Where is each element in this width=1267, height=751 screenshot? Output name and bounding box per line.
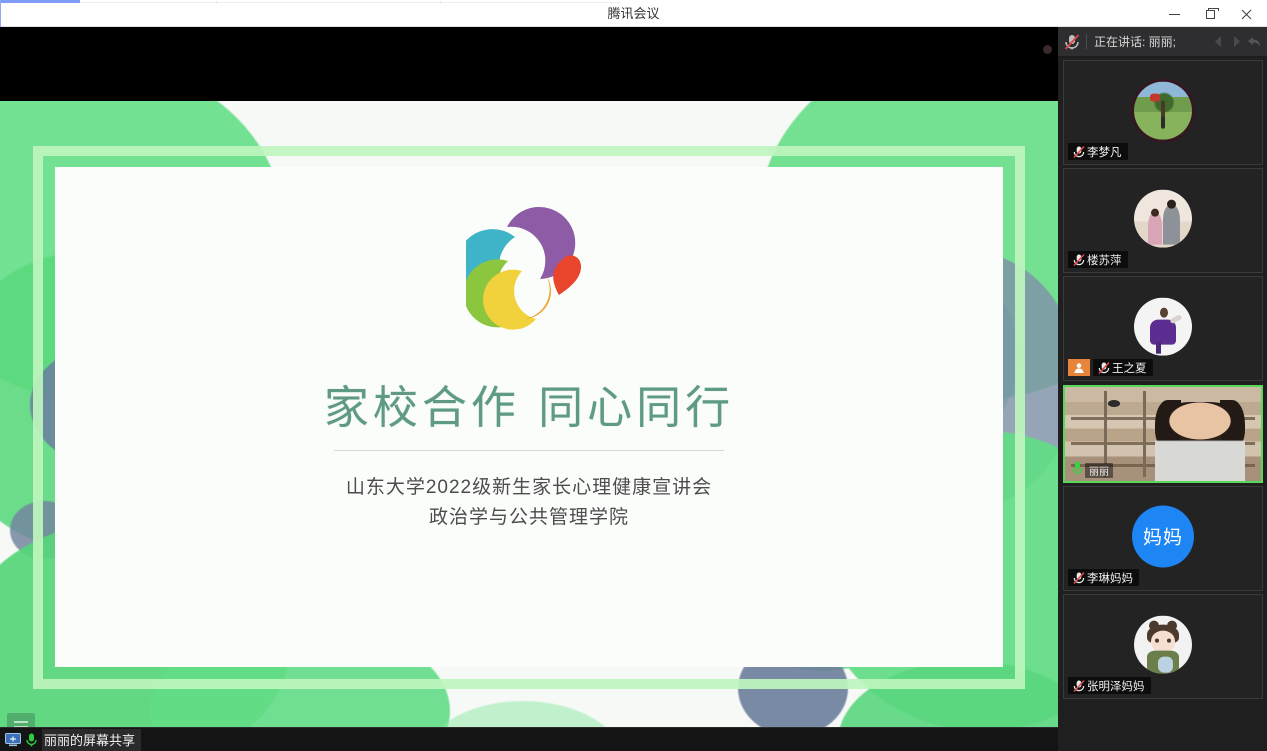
avatar [1134,81,1192,139]
mic-on-indicator [1069,459,1085,477]
mic-off-icon [1063,33,1081,51]
share-status-bar: 丽丽的屏幕共享 [0,727,1058,751]
participant-name: 张明泽妈妈 [1087,678,1145,694]
participant-tile[interactable]: 妈妈 李琳妈妈 [1063,486,1263,591]
close-icon [1241,9,1252,20]
panel-header: 正在讲话: 丽丽; [1058,27,1267,57]
close-button[interactable] [1232,0,1261,27]
restore-icon [1206,10,1215,19]
presentation-slide: 家校合作 同心同行 山东大学2022级新生家长心理健康宣讲会 政治学与公共管理学… [0,101,1058,727]
mic-off-icon [1071,571,1087,585]
remote-cursor-dot [1043,45,1052,54]
slide-content: 家校合作 同心同行 山东大学2022级新生家长心理健康宣讲会 政治学与公共管理学… [0,101,1058,727]
window-title: 腾讯会议 [0,0,1267,27]
participant-nametag: 王之夏 [1093,359,1153,376]
slide-subtitle: 山东大学2022级新生家长心理健康宣讲会 政治学与公共管理学院 [346,473,712,534]
participant-tile-active-speaker[interactable]: 丽丽 [1063,385,1263,483]
share-status-text: 丽丽的屏幕共享 [42,729,141,751]
host-badge [1068,359,1090,376]
header-divider [1086,34,1087,49]
participant-tile[interactable]: 王之夏 [1063,276,1263,381]
participant-nametag: 李梦凡 [1068,143,1128,160]
slide-title: 家校合作 同心同行 [324,371,734,436]
participant-nametag: 张明泽妈妈 [1068,677,1151,694]
tencent-meeting-window: 腾讯会议 [0,0,1267,751]
participant-name: 丽丽 [1089,463,1109,478]
participant-name: 王之夏 [1112,360,1147,376]
return-arrow-icon [1247,35,1262,49]
shared-screen-stage[interactable]: 家校合作 同心同行 山东大学2022级新生家长心理健康宣讲会 政治学与公共管理学… [0,27,1058,727]
mic-off-icon [1096,361,1112,375]
slide-subtitle-line-1: 山东大学2022级新生家长心理健康宣讲会 [346,473,712,503]
next-page-button[interactable] [1228,32,1244,52]
title-divider [334,450,724,451]
active-speaker-label: 正在讲话: 丽丽; [1094,33,1210,50]
university-logo [466,193,592,333]
screen-share-icon [5,733,21,747]
park-photo [1134,81,1192,139]
mic-off-icon [1071,679,1087,693]
mic-on-icon [25,732,38,748]
basketball-photo [1134,297,1192,355]
participant-name: 李琳妈妈 [1087,570,1133,586]
participant-nametag: 李琳妈妈 [1068,569,1139,586]
participant-tile-list[interactable]: 李梦凡 楼苏萍 [1058,57,1267,751]
mic-off-icon [1071,145,1087,159]
participant-tile[interactable]: 李梦凡 [1063,60,1263,165]
maximize-button[interactable] [1196,0,1225,27]
minimize-button[interactable] [1160,0,1189,27]
participant-name: 李梦凡 [1087,144,1122,160]
host-person-icon [1073,362,1085,374]
slide-subtitle-line-2: 政治学与公共管理学院 [346,503,712,533]
participant-nametag: 楼苏萍 [1068,251,1128,268]
participant-tile[interactable]: 楼苏萍 [1063,168,1263,273]
cartoon-photo [1134,615,1192,673]
avatar [1134,615,1192,673]
participant-nametag: 丽丽 [1085,463,1113,478]
participant-tile[interactable]: 张明泽妈妈 [1063,594,1263,699]
mic-off-icon [1071,253,1087,267]
chevron-left-icon [1213,35,1224,48]
back-button[interactable] [1246,32,1262,52]
avatar [1134,189,1192,247]
avatar [1134,297,1192,355]
minimize-icon [1169,14,1180,15]
participant-name: 楼苏萍 [1087,252,1122,268]
mic-on-icon [1071,460,1084,476]
participants-panel: 正在讲话: 丽丽; [1058,27,1267,751]
slide-menu-icon[interactable] [7,713,35,727]
prev-page-button[interactable] [1210,32,1226,52]
chevron-right-icon [1231,35,1242,48]
family-photo [1134,189,1192,247]
panel-nav-buttons [1210,32,1262,52]
avatar: 妈妈 [1132,505,1194,567]
title-bar: 腾讯会议 [0,0,1267,27]
initials-avatar: 妈妈 [1132,505,1194,567]
